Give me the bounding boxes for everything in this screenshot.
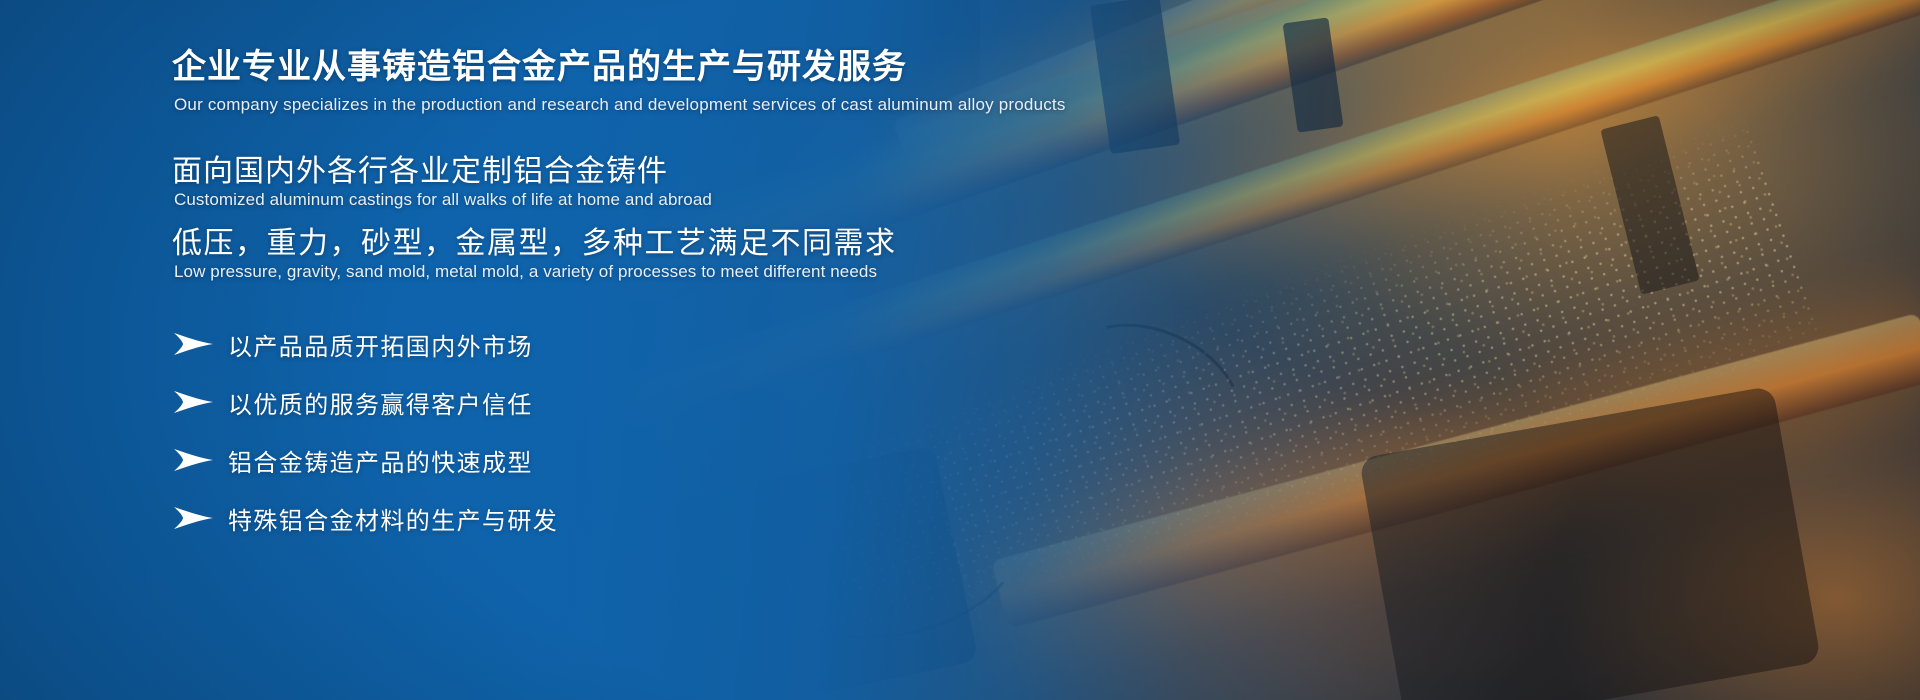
headline-1-en: Our company specializes in the productio… — [174, 95, 1066, 115]
headline-3-cn: 低压，重力，砂型，金属型，多种工艺满足不同需求 — [172, 218, 897, 262]
headline-2-cn: 面向国内外各行各业定制铝合金铸件 — [172, 146, 668, 190]
list-item-label: 以优质的服务赢得客户信任 — [228, 385, 533, 420]
feature-list: 以产品品质开拓国内外市场 以优质的服务赢得客户信任 铝合金铸造产品的快速成型 特… — [172, 318, 872, 550]
list-item: 以产品品质开拓国内外市场 — [172, 318, 872, 370]
list-item: 铝合金铸造产品的快速成型 — [172, 434, 872, 486]
headline-3-en: Low pressure, gravity, sand mold, metal … — [174, 262, 877, 282]
headline-1-cn: 企业专业从事铸造铝合金产品的生产与研发服务 — [172, 48, 907, 87]
list-item-label: 以产品品质开拓国内外市场 — [228, 327, 533, 362]
list-item: 特殊铝合金材料的生产与研发 — [172, 492, 872, 544]
list-item-label: 特殊铝合金材料的生产与研发 — [228, 501, 558, 536]
banner-content: 企业专业从事铸造铝合金产品的生产与研发服务 Our company specia… — [172, 0, 1292, 700]
arrow-right-icon — [172, 447, 214, 473]
arrow-right-icon — [172, 389, 214, 415]
headline-2-en: Customized aluminum castings for all wal… — [174, 190, 712, 210]
arrow-right-icon — [172, 331, 214, 357]
list-item-label: 铝合金铸造产品的快速成型 — [228, 443, 533, 478]
list-item: 以优质的服务赢得客户信任 — [172, 376, 872, 428]
arrow-right-icon — [172, 505, 214, 531]
hero-banner: 企业专业从事铸造铝合金产品的生产与研发服务 Our company specia… — [0, 0, 1920, 700]
